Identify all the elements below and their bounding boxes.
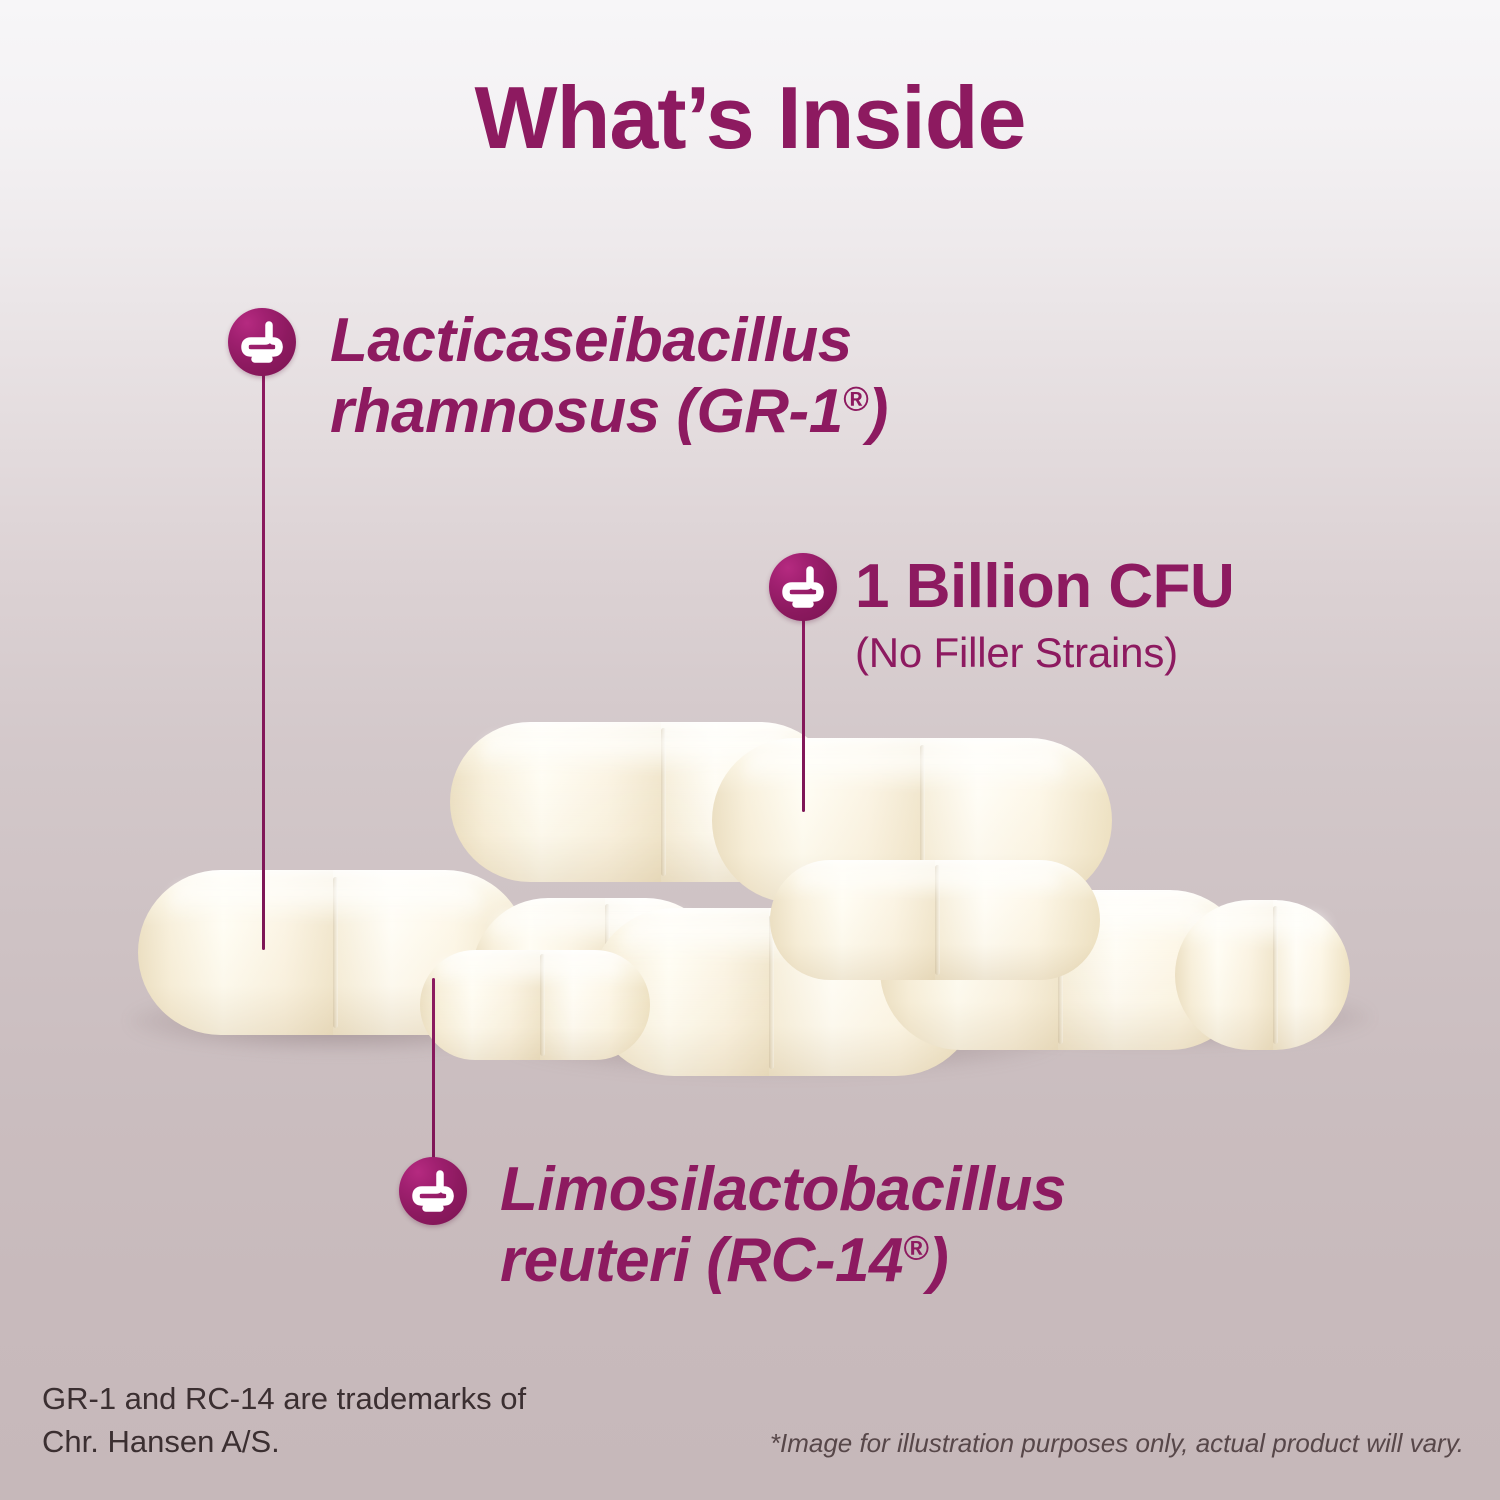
species-line-2-prefix: reuteri (RC-14 [500, 1226, 903, 1295]
registered-mark: ® [903, 1229, 928, 1267]
page-title: What’s Inside [0, 72, 1500, 164]
capsule-pile-image [120, 700, 1400, 1100]
callout-label-limosilactobacillus: Limosilactobacillus reuteri (RC-14®) [500, 1155, 1220, 1296]
leader-line-lacticaseibacillus [262, 368, 265, 950]
cfu-subtitle: (No Filler Strains) [855, 629, 1415, 677]
species-line-2-suffix: ) [868, 377, 888, 446]
capsule [420, 950, 650, 1060]
callout-label-cfu: 1 Billion CFU (No Filler Strains) [855, 552, 1415, 677]
species-line-1: Lacticaseibacillus [330, 306, 852, 375]
species-line-2-prefix: rhamnosus (GR-1 [330, 377, 843, 446]
infographic-canvas: What’s Inside [0, 0, 1500, 1500]
gut-icon [228, 308, 296, 376]
gut-icon [769, 553, 837, 621]
registered-mark: ® [843, 380, 868, 418]
capsule [1175, 900, 1350, 1050]
species-line-2-suffix: ) [928, 1226, 948, 1295]
cfu-value: 1 Billion CFU [855, 552, 1415, 623]
leader-line-limosilactobacillus [432, 978, 435, 1178]
capsule [770, 860, 1100, 980]
leader-line-cfu [802, 612, 805, 812]
species-line-1: Limosilactobacillus [500, 1155, 1066, 1224]
gut-icon [399, 1157, 467, 1225]
illustration-disclaimer: *Image for illustration purposes only, a… [770, 1428, 1464, 1459]
callout-label-lacticaseibacillus: Lacticaseibacillus rhamnosus (GR-1®) [330, 306, 1030, 447]
trademark-notice: GR-1 and RC-14 are trademarks of Chr. Ha… [42, 1378, 526, 1464]
